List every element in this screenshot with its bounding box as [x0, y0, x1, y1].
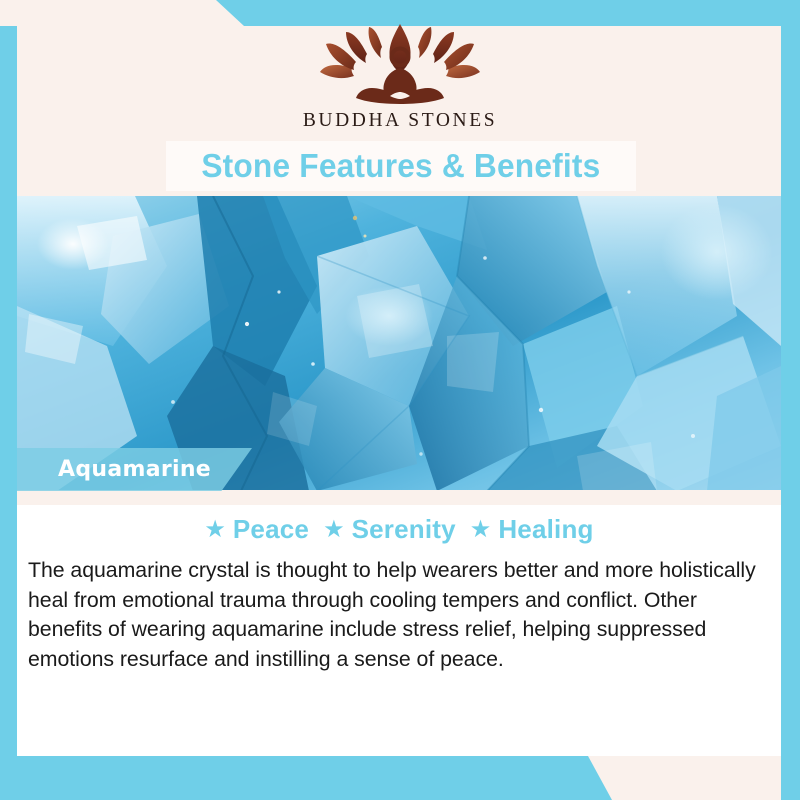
keyword-healing: Healing: [498, 514, 593, 545]
star-icon: ★: [204, 518, 226, 542]
keyword-list: ★Peace★Serenity★Healing: [17, 514, 781, 545]
separator-strip: [17, 490, 781, 505]
lotus-meditation-figure-icon: [312, 22, 488, 106]
aquamarine-crystal-photo: [17, 196, 781, 491]
keyword-serenity: Serenity: [352, 514, 456, 545]
stone-name-ribbon: Aquamarine: [17, 448, 252, 491]
title-banner: Stone Features & Benefits: [166, 141, 636, 191]
stone-name: Aquamarine: [58, 457, 211, 482]
content-panel: ★Peace★Serenity★Healing The aquamarine c…: [17, 505, 781, 756]
brand-logo: BUDDHA STONES: [0, 22, 800, 132]
brand-name: BUDDHA STONES: [0, 110, 800, 132]
bottom-accent-band: [0, 756, 800, 800]
keyword-peace: Peace: [233, 514, 309, 545]
description-text: The aquamarine crystal is thought to hel…: [28, 556, 774, 674]
hero-image: [17, 196, 781, 491]
star-icon: ★: [323, 518, 345, 542]
star-icon: ★: [470, 518, 492, 542]
page-title: Stone Features & Benefits: [201, 147, 600, 185]
infographic-card: BUDDHA STONES Stone Features & Benefits: [0, 0, 800, 800]
